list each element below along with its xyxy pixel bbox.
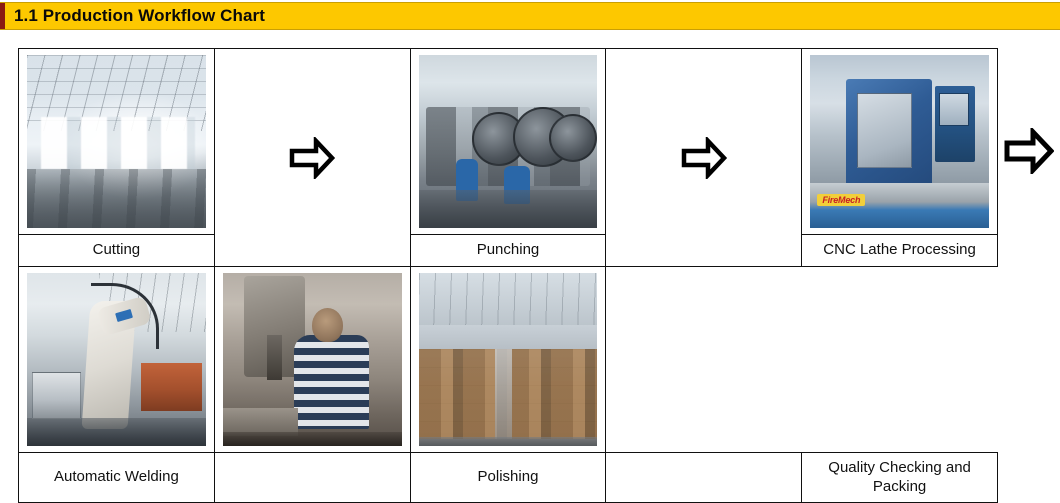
workflow-caption-polishing: Polishing [410,453,606,503]
arrow-cell-1 [214,49,410,267]
arrow-right-icon [289,137,335,179]
worker-head-detail [312,308,342,343]
orange-workbench-detail [141,363,202,411]
arrow-cell-3-footer [214,453,410,503]
section-header-bar: 1.1 Production Workflow Chart [0,2,1060,30]
control-screen-detail [939,93,970,126]
machine-base-detail [810,183,989,228]
workflow-photo-cell-polishing [214,267,410,453]
cnc-lathe-photo: FireMech [810,55,989,228]
welder-cart-detail [32,372,80,419]
machine-door-detail [857,93,913,168]
page-title: 1.1 Production Workflow Chart [14,6,265,26]
workflow-photo-cell-punching [410,49,606,235]
flywheel-detail [549,114,597,162]
workflow-caption-packing: Quality Checking and Packing [802,453,998,503]
packing-warehouse-photo [419,273,598,446]
grinder-spindle-detail [267,335,281,380]
table-row: Automatic Welding Polishing Quality Chec… [19,453,998,503]
header-accent-stripe [0,3,5,29]
worker-striped-shirt-detail [294,335,369,428]
table-row [19,267,998,453]
workflow-caption-punching: Punching [410,235,606,267]
workflow-photo-cell-welding [19,267,215,453]
arrow-cell-2 [606,49,802,267]
punching-press-photo [419,55,598,228]
window-row-detail [41,117,195,169]
workflow-caption-welding: Automatic Welding [19,453,215,503]
floor-detail [419,437,598,446]
floor-machines-detail [27,169,206,228]
arrow-right-icon-trailing [1004,128,1054,174]
cutting-workshop-photo [27,55,206,228]
floor-detail [223,432,402,446]
workflow-photo-cell-packing [410,267,606,453]
warehouse-roof-detail [419,273,598,325]
workflow-caption-cnc: CNC Lathe Processing [802,235,998,267]
polishing-worker-photo [223,273,402,446]
production-workflow-table: FireMech Cutting Punching CNC Lathe Proc… [18,48,998,503]
floor-detail [27,418,206,446]
warehouse-aisle-detail [495,349,511,439]
table-row: Cutting Punching CNC Lathe Processing [19,235,998,267]
welding-robot-photo [27,273,206,446]
arrow-right-icon [681,137,727,179]
table-row: FireMech [19,49,998,235]
arrow-cell-4-footer [606,453,802,503]
workflow-caption-cutting: Cutting [19,235,215,267]
workflow-photo-cell-cutting [19,49,215,235]
floor-detail [419,190,598,228]
workflow-photo-cell-cnc: FireMech [802,49,998,235]
firemech-brand-badge: FireMech [817,194,865,206]
